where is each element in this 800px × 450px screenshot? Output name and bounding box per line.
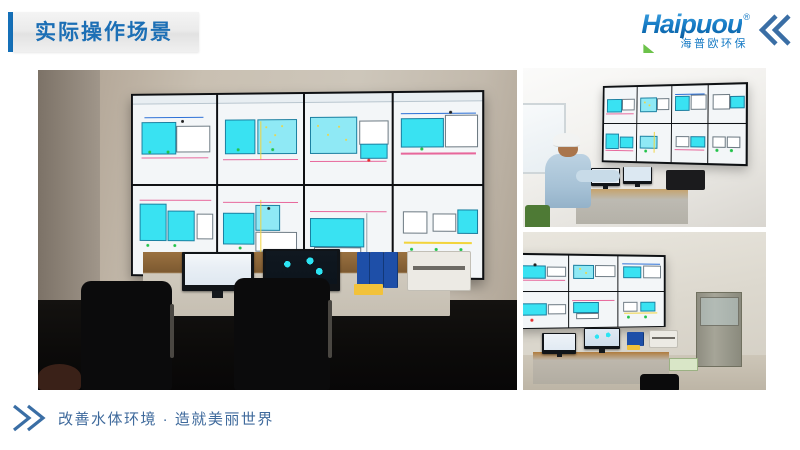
- video-wall-tile: [637, 86, 671, 124]
- video-wall-tile: [671, 124, 707, 163]
- video-wall-tile: [393, 93, 482, 185]
- video-wall-tile: [569, 292, 617, 327]
- desk-monitor: [623, 167, 652, 184]
- potted-plant: [525, 205, 549, 227]
- video-wall-tile: [523, 255, 568, 291]
- video-wall-tile: [569, 255, 617, 290]
- office-chair: [234, 278, 330, 390]
- hard-hat-icon: [553, 133, 580, 147]
- printer: [666, 170, 705, 191]
- video-wall-tile: [708, 84, 745, 123]
- waste-bin: [38, 364, 81, 390]
- double-chevron-right-icon: [8, 398, 48, 438]
- binder: [635, 332, 643, 346]
- desk-monitor: [542, 333, 576, 354]
- video-wall-tile: [218, 94, 303, 184]
- video-wall: [523, 253, 665, 330]
- video-wall-tile: [708, 124, 746, 164]
- photo-operator-at-console: [523, 68, 766, 227]
- photo-control-room-video-wall-wide: [38, 70, 517, 390]
- video-wall-tile: [523, 292, 568, 328]
- video-wall-tile: [133, 95, 217, 184]
- video-wall-tile: [636, 124, 670, 162]
- printer: [407, 251, 471, 291]
- document-cabinet: [696, 292, 742, 367]
- video-wall-tile: [604, 86, 637, 123]
- floor-box: [669, 358, 698, 371]
- desk-monitor: [584, 328, 620, 349]
- binder: [370, 252, 383, 287]
- supply-box: [354, 284, 383, 294]
- operator-arm: [576, 170, 620, 183]
- photo-gallery: [0, 0, 800, 450]
- video-wall-tile: [672, 85, 708, 123]
- video-wall: [602, 82, 748, 166]
- video-wall-tile: [618, 256, 664, 291]
- binder: [384, 252, 397, 287]
- supply-box: [627, 345, 639, 350]
- office-chair: [640, 374, 679, 390]
- footer-slogan: 改善水体环境 · 造就美丽世界: [58, 408, 274, 429]
- video-wall-tile: [305, 93, 392, 184]
- presentation-slide: 实际操作场景 Haipuou ® 海普欧环保: [0, 0, 800, 450]
- video-wall-tile: [618, 292, 664, 327]
- printer: [649, 330, 678, 348]
- binder: [357, 252, 370, 287]
- video-wall-tile: [603, 124, 636, 161]
- operator-desk: [576, 189, 688, 224]
- photo-control-room-angle-view: [523, 232, 766, 390]
- slide-footer: 改善水体环境 · 造就美丽世界: [8, 396, 274, 440]
- office-chair: [81, 281, 172, 390]
